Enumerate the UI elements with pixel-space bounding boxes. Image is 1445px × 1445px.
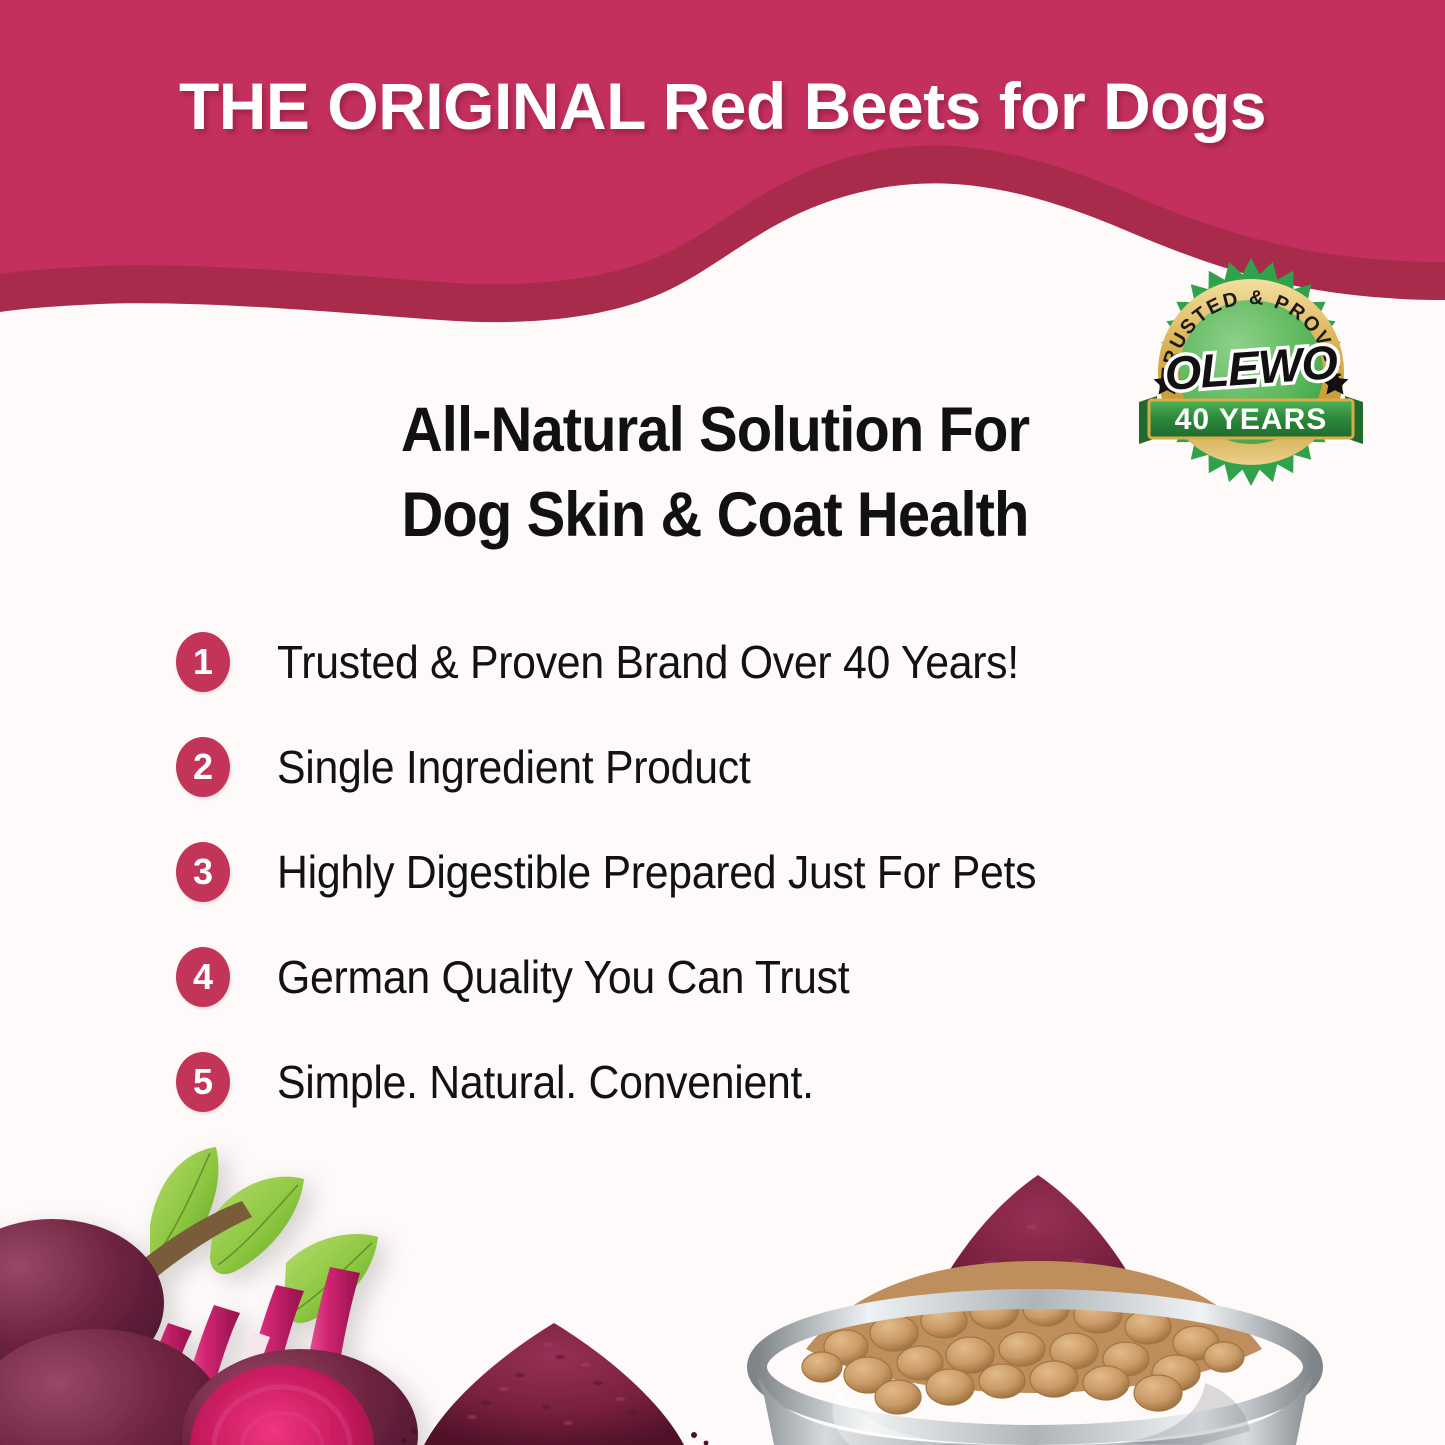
- benefit-number-badge: 1: [176, 632, 230, 692]
- product-photo-strip: [0, 1135, 1445, 1445]
- page-title: THE ORIGINAL Red Beets for Dogs: [0, 68, 1445, 144]
- dog-bowl-with-food: [757, 1175, 1313, 1445]
- benefit-number-badge: 5: [176, 1052, 230, 1112]
- headline-line-1: All-Natural Solution For: [149, 388, 1281, 473]
- benefit-label: Trusted & Proven Brand Over 40 Years!: [277, 635, 1019, 689]
- benefit-item-2: 2 Single Ingredient Product: [176, 733, 1356, 801]
- fresh-beets-illustration: [0, 1147, 418, 1445]
- benefit-item-4: 4 German Quality You Can Trust: [176, 943, 1356, 1011]
- headline-line-2: Dog Skin & Coat Health: [149, 473, 1281, 558]
- benefit-label: German Quality You Can Trust: [277, 950, 849, 1004]
- headline: All-Natural Solution For Dog Skin & Coat…: [149, 388, 1281, 558]
- benefit-number-badge: 4: [176, 947, 230, 1007]
- benefit-number-badge: 2: [176, 737, 230, 797]
- benefit-label: Single Ingredient Product: [277, 740, 750, 794]
- benefit-item-1: 1 Trusted & Proven Brand Over 40 Years!: [176, 628, 1356, 696]
- benefit-label: Highly Digestible Prepared Just For Pets: [277, 845, 1036, 899]
- beet-flakes-pile: [402, 1323, 709, 1445]
- benefit-number-badge: 3: [176, 842, 230, 902]
- benefits-list: 1 Trusted & Proven Brand Over 40 Years! …: [176, 628, 1356, 1153]
- kibble-pile: [802, 1261, 1262, 1414]
- benefit-item-3: 3 Highly Digestible Prepared Just For Pe…: [176, 838, 1356, 906]
- benefit-label: Simple. Natural. Convenient.: [277, 1055, 814, 1109]
- benefit-item-5: 5 Simple. Natural. Convenient.: [176, 1048, 1356, 1116]
